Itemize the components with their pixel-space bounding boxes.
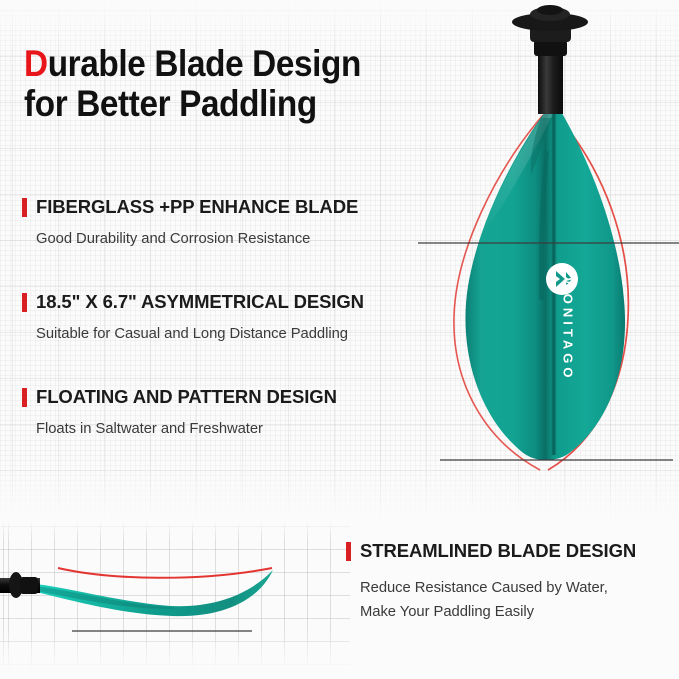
blade-center-rib — [551, 112, 557, 455]
title-line-two: for Better Paddling — [24, 83, 317, 124]
feature-item-fiberglass: FIBERGLASS +PP ENHANCE BLADE Good Durabi… — [22, 196, 422, 247]
feature-title: STREAMLINED BLADE DESIGN — [360, 540, 636, 562]
feature-subtitle: Floats in Saltwater and Freshwater — [36, 421, 422, 437]
feature-item-streamlined: STREAMLINED BLADE DESIGN Reduce Resistan… — [346, 540, 676, 625]
ferrule-collar — [534, 40, 567, 56]
page-title: Durable Blade Designfor Better Paddling — [24, 44, 384, 125]
feature-subtitle: Good Durability and Corrosion Resistance — [36, 231, 422, 247]
paddle-shaft — [538, 48, 563, 114]
paddle-blade-side-view — [0, 528, 340, 648]
feature-subtitle: Suitable for Casual and Long Distance Pa… — [36, 326, 422, 342]
feature-title: 18.5" X 6.7" ASYMMETRICAL DESIGN — [36, 291, 364, 313]
feature-heading: 18.5" X 6.7" ASYMMETRICAL DESIGN — [22, 291, 422, 313]
feature-list: FIBERGLASS +PP ENHANCE BLADE Good Durabi… — [22, 196, 422, 481]
red-bar-marker-icon — [22, 388, 27, 407]
feature-heading: STREAMLINED BLADE DESIGN — [346, 540, 676, 562]
infographic-page: WONITAGO Dur — [0, 0, 679, 679]
feature-heading: FLOATING AND PATTERN DESIGN — [22, 386, 422, 408]
feature-title: FIBERGLASS +PP ENHANCE BLADE — [36, 196, 358, 218]
side-outline-curve — [58, 568, 272, 578]
red-bar-marker-icon — [22, 198, 27, 217]
feature-item-floating: FLOATING AND PATTERN DESIGN Floats in Sa… — [22, 386, 422, 437]
feature-title: FLOATING AND PATTERN DESIGN — [36, 386, 337, 408]
red-bar-marker-icon — [22, 293, 27, 312]
side-ferrule-collar — [20, 577, 38, 594]
red-bar-marker-icon — [346, 542, 351, 561]
title-line-one: urable Blade Design — [48, 43, 361, 84]
paddle-blade-front-view — [418, 0, 679, 505]
ferrule-top — [537, 5, 563, 15]
feature-item-asymmetrical: 18.5" X 6.7" ASYMMETRICAL DESIGN Suitabl… — [22, 291, 422, 342]
title-lead-letter: D — [24, 43, 48, 84]
feature-heading: FIBERGLASS +PP ENHANCE BLADE — [22, 196, 422, 218]
feature-subtitle: Reduce Resistance Caused by Water, Make … — [360, 577, 676, 625]
